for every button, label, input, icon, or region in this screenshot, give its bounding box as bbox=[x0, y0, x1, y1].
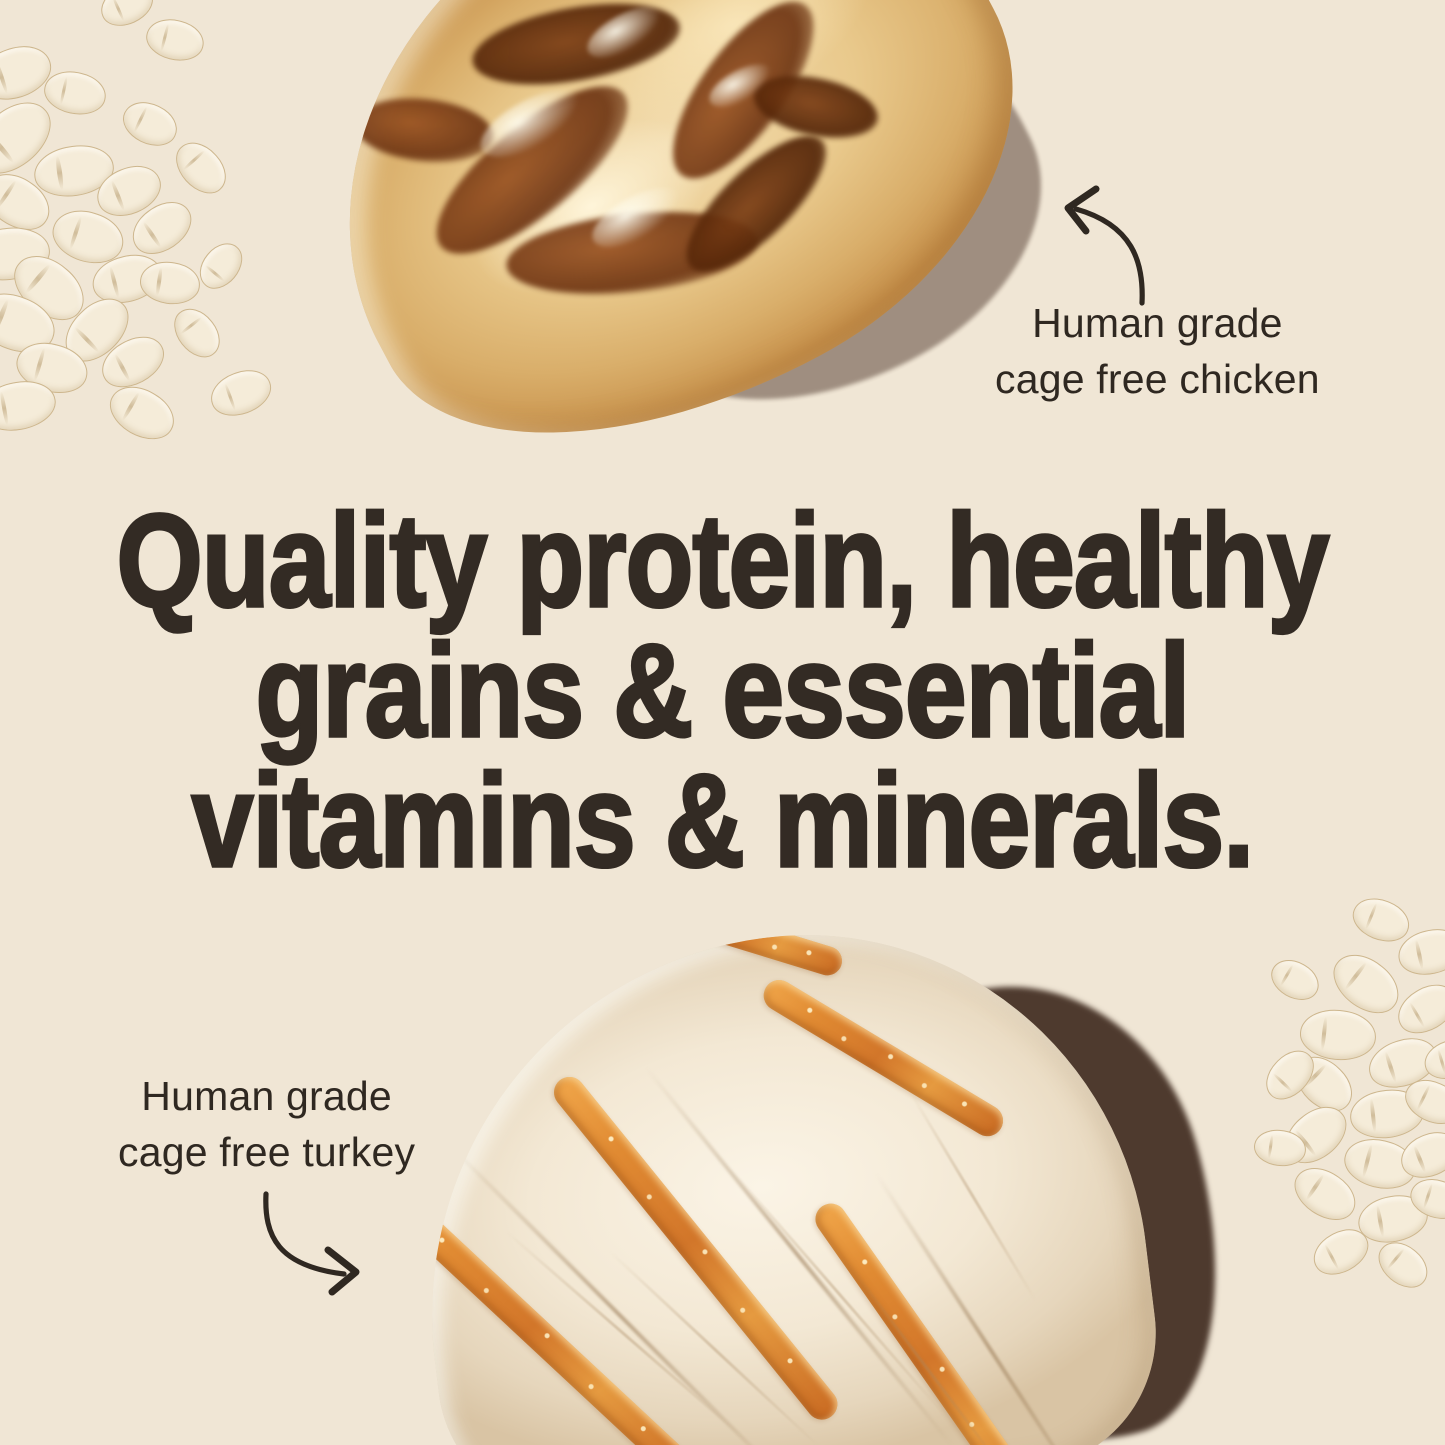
headline-line-3: vitamins & minerals. bbox=[116, 756, 1330, 886]
headline-line-2: grains & essential bbox=[116, 626, 1330, 756]
callout-chicken-line-2: cage free chicken bbox=[995, 351, 1320, 407]
callout-turkey: Human grade cage free turkey bbox=[118, 1068, 415, 1180]
product-feature-banner: Quality protein, healthy grains & essent… bbox=[0, 0, 1445, 1445]
callout-turkey-line-1: Human grade bbox=[118, 1068, 415, 1124]
curved-arrow-down-right-icon bbox=[252, 1188, 397, 1298]
callout-chicken-line-1: Human grade bbox=[995, 295, 1320, 351]
grilled-chicken-breast-image bbox=[237, 0, 1099, 536]
sliced-roast-turkey-breast-image bbox=[389, 896, 1172, 1445]
callout-turkey-line-2: cage free turkey bbox=[118, 1124, 415, 1180]
callout-chicken: Human grade cage free chicken bbox=[995, 295, 1320, 407]
headline-line-1: Quality protein, healthy bbox=[116, 496, 1330, 626]
headline: Quality protein, healthy grains & essent… bbox=[116, 496, 1330, 886]
